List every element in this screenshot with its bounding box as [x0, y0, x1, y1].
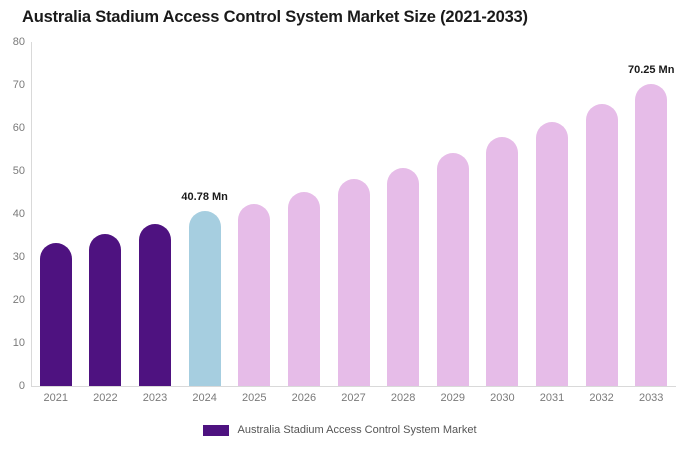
- x-axis-tick-label-2030: 2030: [490, 392, 514, 404]
- legend-item[interactable]: Australia Stadium Access Control System …: [203, 424, 476, 436]
- bar-group-2029[interactable]: [437, 42, 469, 386]
- y-axis-tick-label: 70: [13, 79, 25, 91]
- legend-label: Australia Stadium Access Control System …: [237, 424, 476, 436]
- chart-legend: Australia Stadium Access Control System …: [0, 424, 680, 436]
- bar-2026[interactable]: [288, 192, 320, 386]
- bar-group-2024[interactable]: [189, 42, 221, 386]
- bar-group-2033[interactable]: [635, 42, 667, 386]
- x-axis-tick-label-2033: 2033: [639, 392, 663, 404]
- x-axis-tick-label-2024: 2024: [192, 392, 216, 404]
- y-axis-tick-label: 0: [19, 380, 25, 392]
- bar-2027[interactable]: [338, 179, 370, 386]
- bar-2025[interactable]: [238, 204, 270, 386]
- chart-title: Australia Stadium Access Control System …: [22, 8, 528, 27]
- x-axis-tick-label-2027: 2027: [341, 392, 365, 404]
- x-axis-tick-label-2023: 2023: [143, 392, 167, 404]
- bar-2031[interactable]: [536, 122, 568, 386]
- bar-group-2031[interactable]: [536, 42, 568, 386]
- y-axis-tick-label: 20: [13, 294, 25, 306]
- bar-2029[interactable]: [437, 153, 469, 386]
- bar-2030[interactable]: [486, 137, 518, 386]
- y-axis-tick-label: 60: [13, 122, 25, 134]
- x-axis-tick-label-2021: 2021: [44, 392, 68, 404]
- bars-layer: 40.78 Mn70.25 Mn: [31, 42, 676, 386]
- bar-group-2023[interactable]: [139, 42, 171, 386]
- x-axis-tick-label-2025: 2025: [242, 392, 266, 404]
- x-axis-tick-label-2028: 2028: [391, 392, 415, 404]
- bar-2028[interactable]: [387, 168, 419, 386]
- bar-group-2026[interactable]: [288, 42, 320, 386]
- bar-group-2025[interactable]: [238, 42, 270, 386]
- bar-group-2028[interactable]: [387, 42, 419, 386]
- bar-2032[interactable]: [586, 104, 618, 386]
- legend-swatch-icon: [203, 425, 229, 436]
- y-axis-tick-label: 40: [13, 208, 25, 220]
- bar-2024[interactable]: [189, 211, 221, 386]
- bar-group-2030[interactable]: [486, 42, 518, 386]
- y-axis-labels: 01020304050607080: [0, 0, 25, 450]
- bar-value-label-2033: 70.25 Mn: [628, 64, 674, 76]
- x-axis-tick-label-2022: 2022: [93, 392, 117, 404]
- y-axis-tick-label: 80: [13, 36, 25, 48]
- y-axis-tick-label: 30: [13, 251, 25, 263]
- bar-group-2032[interactable]: [586, 42, 618, 386]
- x-axis-tick-label-2026: 2026: [292, 392, 316, 404]
- y-axis-tick-label: 50: [13, 165, 25, 177]
- bar-group-2021[interactable]: [40, 42, 72, 386]
- bar-value-label-2024: 40.78 Mn: [181, 191, 227, 203]
- bar-2023[interactable]: [139, 224, 171, 386]
- x-axis-labels: 2021202220232024202520262027202820292030…: [31, 392, 676, 412]
- bar-group-2022[interactable]: [89, 42, 121, 386]
- x-axis-tick-label-2029: 2029: [440, 392, 464, 404]
- chart-container: Australia Stadium Access Control System …: [0, 0, 680, 450]
- x-axis-tick-label-2031: 2031: [540, 392, 564, 404]
- bar-group-2027[interactable]: [338, 42, 370, 386]
- bar-2033[interactable]: [635, 84, 667, 386]
- x-axis-tick-label-2032: 2032: [589, 392, 613, 404]
- x-axis-line: [31, 386, 676, 387]
- bar-2021[interactable]: [40, 243, 72, 386]
- bar-2022[interactable]: [89, 234, 121, 386]
- y-axis-tick-label: 10: [13, 337, 25, 349]
